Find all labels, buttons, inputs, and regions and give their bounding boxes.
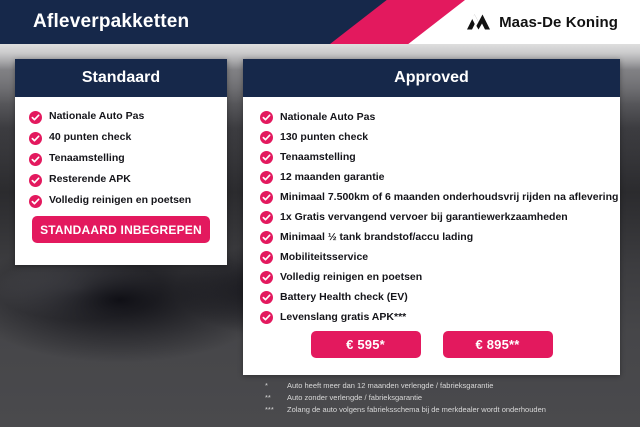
footnote-row: ** Auto zonder verlengde / fabrieksgaran… (265, 393, 625, 403)
standaard-inbegrepen-button[interactable]: STANDAARD INBEGREPEN (32, 216, 210, 243)
list-item: Tenaamstelling (15, 152, 227, 166)
footnote-text: Auto heeft meer dan 12 maanden verlengde… (287, 381, 493, 391)
check-circle-icon (260, 291, 273, 304)
feature-label: 130 punten check (280, 130, 368, 144)
card-header-standaard: Standaard (15, 59, 227, 97)
feature-label: 12 maanden garantie (280, 170, 384, 184)
check-circle-icon (29, 153, 42, 166)
footnote-text: Auto zonder verlengde / fabrieksgarantie (287, 393, 422, 403)
list-item: Resterende APK (15, 173, 227, 187)
feature-label: Nationale Auto Pas (280, 110, 375, 124)
footnote-block: * Auto heeft meer dan 12 maanden verleng… (265, 381, 625, 417)
slide-root: Afleverpakketten Maas-De Koning Standaar… (0, 0, 640, 427)
feature-list-approved: Nationale Auto Pas 130 punten check Tena… (243, 97, 620, 324)
check-circle-icon (260, 251, 273, 264)
feature-label: Levenslang gratis APK*** (280, 310, 406, 324)
check-circle-icon (260, 111, 273, 124)
list-item: Tenaamstelling (243, 150, 620, 164)
check-circle-icon (29, 132, 42, 145)
footnote-marker: *** (265, 405, 281, 415)
feature-label: Tenaamstelling (49, 152, 125, 166)
package-card-standaard: Standaard Nationale Auto Pas 40 punten c… (15, 59, 227, 265)
check-circle-icon (260, 311, 273, 324)
feature-label: Tenaamstelling (280, 150, 356, 164)
footnote-text: Zolang de auto volgens fabrieksschema bi… (287, 405, 546, 415)
card-title-approved: Approved (394, 69, 469, 87)
feature-label: Volledig reinigen en poetsen (49, 194, 191, 208)
list-item: Volledig reinigen en poetsen (15, 194, 227, 208)
list-item: Nationale Auto Pas (243, 110, 620, 124)
check-circle-icon (260, 191, 273, 204)
price-button-595[interactable]: € 595* (311, 331, 421, 358)
check-circle-icon (260, 151, 273, 164)
list-item: 40 punten check (15, 131, 227, 145)
feature-label: 40 punten check (49, 131, 131, 145)
footnote-marker: ** (265, 393, 281, 403)
brand-lockup: Maas-De Koning (466, 0, 618, 44)
check-circle-icon (29, 174, 42, 187)
page-title: Afleverpakketten (33, 0, 189, 44)
feature-label: Battery Health check (EV) (280, 290, 408, 304)
check-circle-icon (260, 131, 273, 144)
list-item: Minimaal ½ tank brandstof/accu lading (243, 230, 620, 244)
list-item: Volledig reinigen en poetsen (243, 270, 620, 284)
list-item: Minimaal 7.500km of 6 maanden onderhouds… (243, 190, 620, 204)
list-item: 12 maanden garantie (243, 170, 620, 184)
feature-label: Mobiliteitsservice (280, 250, 368, 264)
footnote-row: * Auto heeft meer dan 12 maanden verleng… (265, 381, 625, 391)
feature-label: Resterende APK (49, 173, 131, 187)
feature-label: Nationale Auto Pas (49, 110, 144, 124)
list-item: Mobiliteitsservice (243, 250, 620, 264)
feature-list-standaard: Nationale Auto Pas 40 punten check Tenaa… (15, 97, 227, 208)
package-card-approved: Approved Nationale Auto Pas 130 punten c… (243, 59, 620, 375)
list-item: Nationale Auto Pas (15, 110, 227, 124)
list-item: Levenslang gratis APK*** (243, 310, 620, 324)
brand-name: Maas-De Koning (499, 14, 618, 31)
feature-label: 1x Gratis vervangend vervoer bij garanti… (280, 210, 568, 224)
list-item: 1x Gratis vervangend vervoer bij garanti… (243, 210, 620, 224)
price-button-895[interactable]: € 895** (443, 331, 553, 358)
check-circle-icon (260, 231, 273, 244)
feature-label: Volledig reinigen en poetsen (280, 270, 422, 284)
page-header: Afleverpakketten Maas-De Koning (0, 0, 640, 44)
footnote-row: *** Zolang de auto volgens fabrieksschem… (265, 405, 625, 415)
check-circle-icon (260, 211, 273, 224)
list-item: Battery Health check (EV) (243, 290, 620, 304)
feature-label: Minimaal ½ tank brandstof/accu lading (280, 230, 473, 244)
check-circle-icon (260, 171, 273, 184)
card-header-approved: Approved (243, 59, 620, 97)
check-circle-icon (260, 271, 273, 284)
maas-de-koning-m-icon (466, 13, 491, 31)
price-button-row: € 595* € 895** (243, 331, 620, 358)
footnote-marker: * (265, 381, 281, 391)
feature-label: Minimaal 7.500km of 6 maanden onderhouds… (280, 190, 618, 204)
card-title-standaard: Standaard (82, 69, 160, 87)
check-circle-icon (29, 195, 42, 208)
list-item: 130 punten check (243, 130, 620, 144)
check-circle-icon (29, 111, 42, 124)
